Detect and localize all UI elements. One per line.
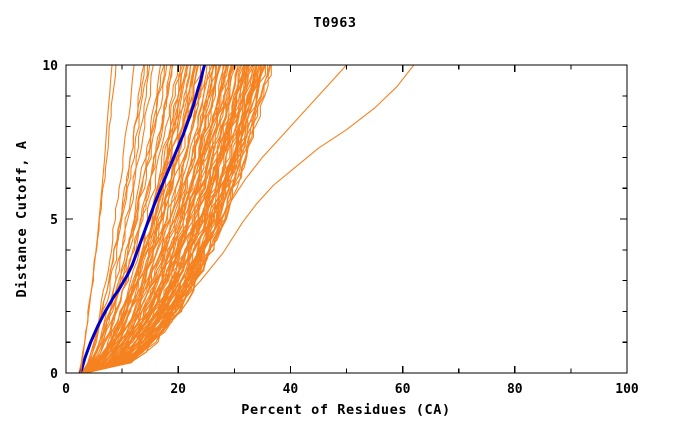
chart-canvas: T0963 020406080100 0510 Percent of Resid… <box>0 0 680 440</box>
x-tick-label-20: 20 <box>170 382 186 397</box>
y-axis-title: Distance Cutoff, A <box>14 140 30 297</box>
x-axis-title: Percent of Residues (CA) <box>241 402 450 418</box>
chart-title: T0963 <box>313 15 356 31</box>
x-tick-label-0: 0 <box>62 382 70 397</box>
y-tick-label-10: 10 <box>42 59 58 74</box>
chart-background <box>0 0 680 440</box>
y-tick-label-5: 5 <box>50 213 58 228</box>
x-tick-label-60: 60 <box>395 382 411 397</box>
x-tick-label-100: 100 <box>615 382 639 397</box>
chart-container: T0963 020406080100 0510 Percent of Resid… <box>0 0 680 440</box>
x-tick-label-80: 80 <box>507 382 523 397</box>
y-tick-label-0: 0 <box>50 367 58 382</box>
x-tick-label-40: 40 <box>283 382 299 397</box>
